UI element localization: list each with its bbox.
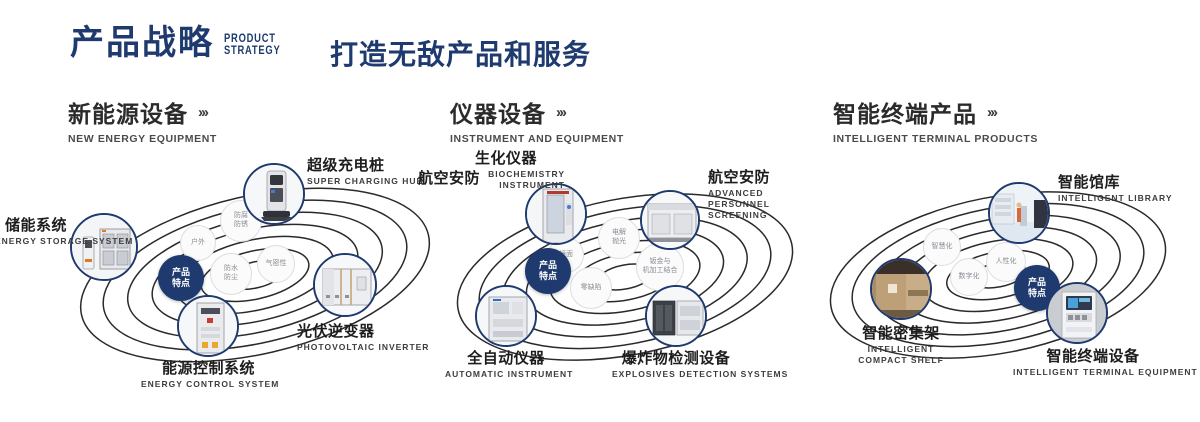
- node-label-energy-storage: 储能系统 ENERGY STORAGE SYSTEM: [0, 217, 67, 247]
- core-badge-line2: 特点: [172, 278, 190, 289]
- node-label-cn: 航空安防: [708, 169, 798, 186]
- section-title-text: 仪器设备: [450, 95, 546, 129]
- product-photo: [72, 215, 136, 279]
- product-photo: [642, 192, 698, 248]
- feature-label: 机加工结合: [643, 267, 678, 276]
- section-header-intelligent-terminal: 智能终端产品 ››› INTELLIGENT TERMINAL PRODUCTS: [833, 95, 1038, 145]
- product-node-automatic-instrument[interactable]: [475, 285, 537, 347]
- section-title-text: 新能源设备: [68, 95, 188, 129]
- node-label-en: AUTOMATIC INSTRUMENT: [445, 369, 567, 380]
- node-label-en: INTELLIGENT LIBRARY: [1058, 193, 1173, 204]
- node-label-personnel-screening: 航空安防 ADVANCED PERSONNEL SCREENING: [708, 169, 798, 220]
- product-node-terminal-equipment[interactable]: [1046, 282, 1108, 344]
- node-label-en: INTELLIGENT TERMINAL EQUIPMENT: [1013, 367, 1173, 378]
- product-node-intelligent-library[interactable]: [988, 182, 1050, 244]
- feature-bubble: 防水 防尘: [210, 253, 252, 295]
- node-label-compact-shelf: 智能密集架 INTELLIGENT COMPACT SHELF: [826, 325, 976, 366]
- chevron-right-icon: ›››: [198, 104, 207, 121]
- node-label-cn: 智能终端设备: [1013, 348, 1173, 365]
- feature-label: 户外: [191, 239, 205, 248]
- node-label-en: ENERGY STORAGE SYSTEM: [0, 236, 67, 247]
- core-badge-line1: 产品: [172, 267, 190, 278]
- node-label-explosives-detection: 爆炸物检测设备 EXPLOSIVES DETECTION SYSTEMS: [612, 350, 740, 380]
- cluster-instrument: 镜面 电解 抛光 零缺陷 钣金与 机加工结合 产品 特点 航空安防 生化: [440, 155, 820, 395]
- product-node-compact-shelf[interactable]: [870, 258, 932, 320]
- node-label-cn: 爆炸物检测设备: [612, 350, 740, 367]
- node-label-super-charging-hub: 超级充电桩 SUPER CHARGING HUB: [307, 157, 424, 187]
- cluster-intelligent-terminal: 智慧化 数字化 人性化 产品 特点 智能馆库 INTEL: [818, 170, 1198, 385]
- chevron-right-icon: ›››: [556, 104, 565, 121]
- node-label-intelligent-library: 智能馆库 INTELLIGENT LIBRARY: [1058, 174, 1173, 204]
- node-label-cn: 储能系统: [0, 217, 67, 234]
- core-badge-line2: 特点: [1028, 288, 1046, 299]
- node-label-aviation-security-left: 航空安防: [410, 170, 480, 187]
- feature-label: 人性化: [996, 258, 1017, 267]
- feature-label: 电解: [612, 229, 626, 238]
- node-label-energy-control-system: 能源控制系统 ENERGY CONTROL SYSTEM: [141, 360, 276, 390]
- product-photo: [245, 165, 303, 223]
- chevron-right-icon: ›››: [987, 104, 996, 121]
- node-label-cn: 航空安防: [410, 170, 480, 187]
- node-label-cn: 能源控制系统: [141, 360, 276, 377]
- node-label-terminal-equipment: 智能终端设备 INTELLIGENT TERMINAL EQUIPMENT: [1013, 348, 1173, 378]
- page-title-en: PRODUCT STRATEGY: [224, 32, 281, 57]
- feature-bubble: 数字化: [950, 258, 988, 296]
- page-title-en-line2: STRATEGY: [224, 44, 281, 57]
- node-label-en: ENERGY CONTROL SYSTEM: [141, 379, 276, 390]
- core-badge-product-features: 产品 特点: [158, 255, 204, 301]
- feature-label: 抛光: [612, 238, 626, 247]
- section-title-en: INSTRUMENT AND EQUIPMENT: [450, 133, 624, 145]
- page-title-en-line1: PRODUCT: [224, 32, 281, 45]
- feature-label: 零缺陷: [581, 284, 602, 293]
- feature-label: 钣金与: [650, 258, 671, 267]
- node-label-cn: 超级充电桩: [307, 157, 424, 174]
- product-node-energy-control-system[interactable]: [177, 295, 239, 357]
- product-photo: [315, 255, 375, 315]
- feature-label: 数字化: [959, 273, 980, 282]
- section-header-new-energy: 新能源设备 ››› NEW ENERGY EQUIPMENT: [68, 95, 217, 145]
- feature-label: 防尘: [224, 274, 238, 283]
- section-title-text: 智能终端产品: [833, 95, 977, 129]
- product-photo: [1048, 284, 1106, 342]
- node-label-en: PHOTOVOLTAIC INVERTER: [297, 342, 429, 353]
- product-photo: [527, 185, 585, 243]
- core-badge-line2: 特点: [539, 271, 557, 282]
- node-label-en: SUPER CHARGING HUB: [307, 176, 424, 187]
- node-label-biochemistry-instrument: 生化仪器 BIOCHEMISTRY INSTRUMENT: [475, 150, 565, 191]
- node-label-cn: 全自动仪器: [445, 350, 567, 367]
- node-label-cn: 光伏逆变器: [297, 323, 429, 340]
- node-label-en: BIOCHEMISTRY INSTRUMENT: [475, 169, 565, 190]
- feature-label: 防水: [224, 265, 238, 274]
- node-label-cn: 生化仪器: [475, 150, 565, 167]
- core-badge-line1: 产品: [1028, 277, 1046, 288]
- feature-label: 智慧化: [932, 243, 953, 252]
- page-slogan: 打造无敌产品和服务: [330, 33, 591, 73]
- feature-label: 气密性: [266, 260, 287, 269]
- product-photo: [990, 184, 1048, 242]
- section-title-cn: 新能源设备 ›››: [68, 95, 217, 129]
- cluster-new-energy: 户外 防腐 防锈 防水 防尘 气密性 产品 特点: [55, 155, 455, 395]
- feature-bubble: 气密性: [257, 245, 295, 283]
- section-title-cn: 智能终端产品 ›››: [833, 95, 1038, 129]
- page-header: 产品战略 PRODUCT STRATEGY: [70, 26, 296, 60]
- section-header-instrument: 仪器设备 ››› INSTRUMENT AND EQUIPMENT: [450, 95, 624, 145]
- product-photo: [179, 297, 237, 355]
- section-title-cn: 仪器设备 ›››: [450, 95, 624, 129]
- page-title: 产品战略: [70, 26, 214, 60]
- node-label-cn: 智能密集架: [826, 325, 976, 342]
- section-title-en: NEW ENERGY EQUIPMENT: [68, 133, 217, 145]
- product-node-explosives-detection[interactable]: [645, 285, 707, 347]
- node-label-en: ADVANCED PERSONNEL SCREENING: [708, 188, 798, 220]
- node-label-photovoltaic-inverter: 光伏逆变器 PHOTOVOLTAIC INVERTER: [297, 323, 429, 353]
- product-node-energy-storage[interactable]: [70, 213, 138, 281]
- product-photo: [647, 287, 705, 345]
- core-badge-line1: 产品: [539, 260, 557, 271]
- feature-bubble: 电解 抛光: [598, 217, 640, 259]
- node-label-automatic-instrument: 全自动仪器 AUTOMATIC INSTRUMENT: [445, 350, 567, 380]
- product-node-biochemistry-instrument[interactable]: [525, 183, 587, 245]
- product-node-photovoltaic-inverter[interactable]: [313, 253, 377, 317]
- product-photo: [872, 260, 930, 318]
- feature-bubble: 零缺陷: [570, 267, 612, 309]
- product-node-personnel-screening[interactable]: [640, 190, 700, 250]
- product-node-super-charging-hub[interactable]: [243, 163, 305, 225]
- node-label-en: EXPLOSIVES DETECTION SYSTEMS: [612, 369, 740, 380]
- product-photo: [477, 287, 535, 345]
- node-label-cn: 智能馆库: [1058, 174, 1173, 191]
- node-label-en: INTELLIGENT COMPACT SHELF: [846, 344, 956, 365]
- section-title-en: INTELLIGENT TERMINAL PRODUCTS: [833, 133, 1038, 145]
- feature-bubble: 钣金与 机加工结合: [636, 243, 684, 291]
